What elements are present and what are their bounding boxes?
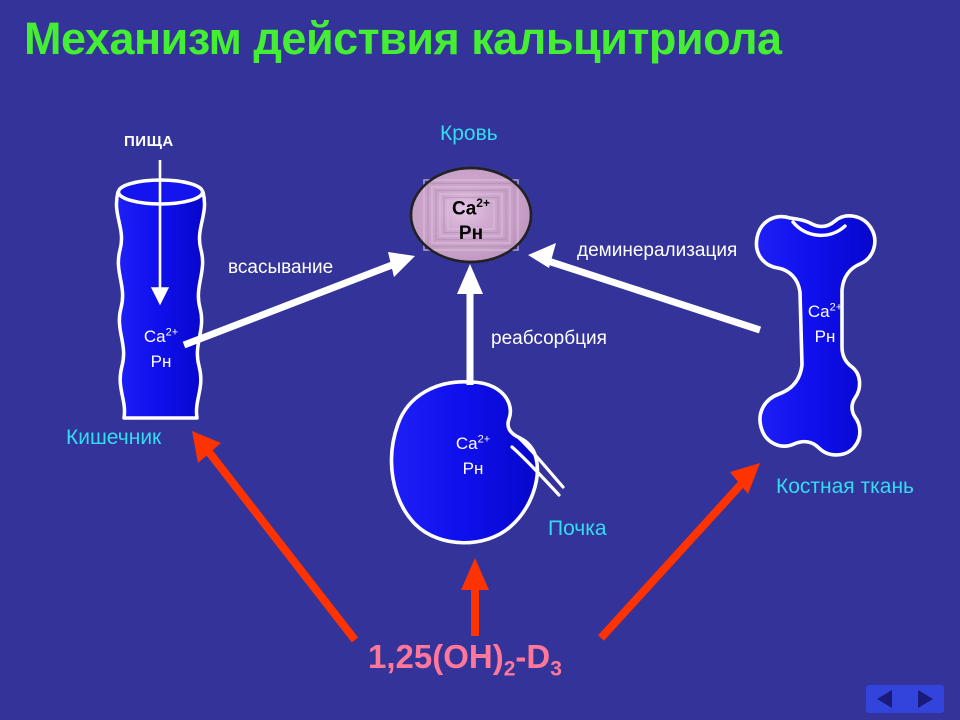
page-title: Механизм действия кальцитриола <box>24 16 782 61</box>
arrow-reabsorption <box>457 264 483 385</box>
kidney-phosphate: Рн <box>463 459 484 478</box>
food-label: ПИЩА <box>124 134 174 149</box>
blood-ion-caption: Ca2+ Рн <box>428 196 514 247</box>
arrow-hormone-intestine <box>192 431 355 640</box>
blood-ion-charge: 2+ <box>476 196 490 210</box>
process-label-demineralization: деминерализация <box>577 241 737 260</box>
bone-ion: Ca <box>808 302 830 321</box>
formula-subscript-3: 3 <box>550 658 562 681</box>
bone-ion-caption: Ca2+ Рн <box>782 300 868 349</box>
intestine-ion: Ca <box>144 327 166 346</box>
blood-label: Кровь <box>440 123 498 144</box>
previous-slide-icon[interactable] <box>877 690 892 708</box>
arrow-hormone-bone <box>601 463 760 638</box>
intestine-phosphate: Рн <box>151 352 172 371</box>
blood-phosphate: Рн <box>459 223 483 244</box>
intestine-ion-caption: Ca2+ Рн <box>118 325 204 374</box>
arrow-hormone-kidney <box>461 558 489 636</box>
intestine-label: Кишечник <box>66 427 161 448</box>
slide-canvas: Механизм действия кальцитриола ПИЩА Кише… <box>0 0 960 720</box>
process-label-reabsorption: реабсорбция <box>491 329 607 348</box>
formula-subscript-2: 2 <box>504 658 516 681</box>
kidney-ion: Ca <box>456 434 478 453</box>
formula-main: 1,25(OH) <box>368 638 504 675</box>
kidney-ion-caption: Ca2+ Рн <box>430 432 516 481</box>
kidney-ion-charge: 2+ <box>478 433 491 445</box>
kidney-label: Почка <box>548 518 607 539</box>
next-slide-icon[interactable] <box>918 690 933 708</box>
bone-label: Костная ткань <box>776 476 914 497</box>
hormone-formula: 1,25(OH)2-D3 <box>368 640 562 680</box>
bone-phosphate: Рн <box>815 327 836 346</box>
intestine-ion-charge: 2+ <box>166 326 179 338</box>
slide-navigation <box>866 685 944 713</box>
formula-dash: -D <box>515 638 550 675</box>
blood-ion: Ca <box>452 198 476 219</box>
process-label-absorption: всасывание <box>228 258 333 277</box>
bone-ion-charge: 2+ <box>830 301 843 313</box>
